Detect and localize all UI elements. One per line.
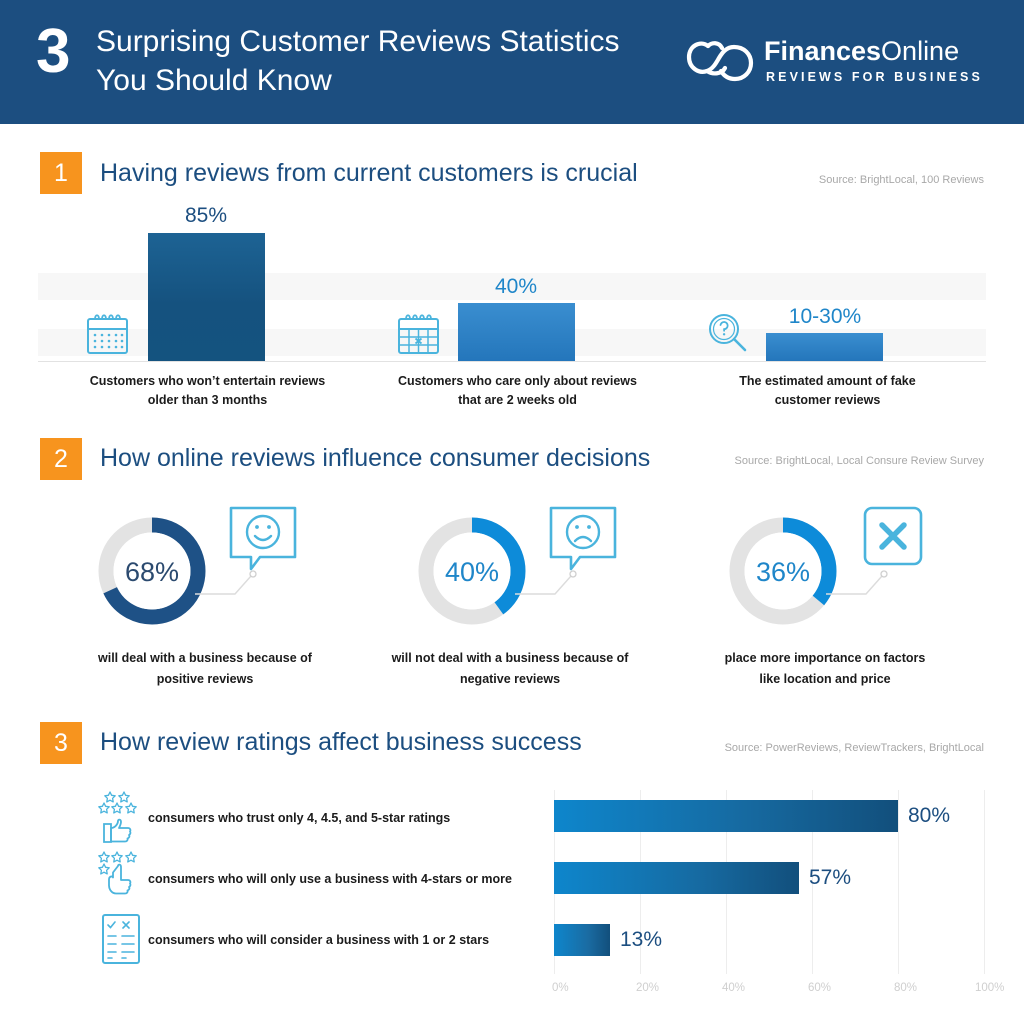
page-title: Surprising Customer Reviews Statistics Y… (96, 22, 696, 100)
chart3-xtick-40: 40% (722, 982, 745, 994)
five-stars-thumbs-up-icon (98, 790, 144, 846)
chart1-value-1: 85% (146, 204, 266, 228)
chart1-label-1-line1: Customers who won’t entertain reviews (60, 372, 355, 391)
chart3-label-2: consumers who will only use a business w… (148, 872, 512, 886)
magnifier-question-icon (705, 309, 751, 357)
x-cross-box-icon (862, 505, 924, 567)
chart1-bar-3 (766, 333, 883, 361)
header-big-number: 3 (36, 16, 69, 88)
chart1-bar-1 (148, 233, 265, 361)
donut-36-connector (826, 568, 906, 598)
page-header: 3 Surprising Customer Reviews Statistics… (0, 0, 1024, 124)
donut-chart-40: 40% (417, 505, 527, 638)
donut-36-label: place more importance on factors like lo… (660, 648, 990, 690)
section-2-badge: 2 (40, 438, 82, 480)
section-1-title: Having reviews from current customers is… (100, 159, 638, 188)
section-1-source: Source: BrightLocal, 100 Reviews (819, 174, 984, 186)
chart3-xtick-0: 0% (552, 982, 569, 994)
logo-tagline: REVIEWS FOR BUSINESS (766, 70, 983, 84)
chart1-label-3: The estimated amount of fake customer re… (680, 372, 975, 410)
chart1-label-3-line1: The estimated amount of fake (680, 372, 975, 391)
page-title-line2: You Should Know (96, 61, 696, 100)
checklist-document-icon (100, 913, 142, 965)
section-3-title: How review ratings affect business succe… (100, 728, 582, 757)
financesonline-logo: FinancesOnline REVIEWS FOR BUSINESS (686, 33, 986, 93)
cloud-infinity-logo-icon (686, 38, 758, 88)
chart1-value-3: 10-30% (765, 305, 885, 329)
logo-wordmark: FinancesOnline (764, 35, 959, 67)
chart1-axis-line (38, 361, 986, 362)
chart3-xtick-80: 80% (894, 982, 917, 994)
chart3-bar-2 (554, 862, 799, 894)
donut-chart-68: 68% (97, 505, 207, 638)
donut-68-label-line2: positive reviews (40, 669, 370, 690)
calendar-x-icon (396, 309, 441, 357)
chart1-label-2-line2: that are 2 weeks old (370, 391, 665, 410)
smiley-happy-speech-bubble-icon (228, 505, 298, 575)
chart3-xtick-60: 60% (808, 982, 831, 994)
chart3-grid-80 (898, 790, 899, 974)
chart1-bar-2 (458, 303, 575, 361)
chart3-value-3: 13% (620, 928, 662, 952)
page-title-line1: Surprising Customer Reviews Statistics (96, 25, 620, 58)
smiley-sad-speech-bubble-icon (548, 505, 618, 575)
donut-36-label-line1: place more importance on factors (660, 648, 990, 669)
chart3-label-1: consumers who trust only 4, 4.5, and 5-s… (148, 811, 450, 825)
four-stars-pointing-hand-icon (98, 850, 144, 906)
chart3-xtick-20: 20% (636, 982, 659, 994)
donut-68-label-line1: will deal with a business because of (40, 648, 370, 669)
chart1-value-2: 40% (456, 275, 576, 299)
chart3-value-1: 80% (908, 804, 950, 828)
chart3-bar-3 (554, 924, 610, 956)
donut-68-value: 68% (97, 557, 207, 588)
logo-name-bold: Finances (764, 36, 881, 66)
calendar-dots-icon (85, 309, 130, 357)
donut-40-label: will not deal with a business because of… (345, 648, 675, 690)
chart1-label-1: Customers who won’t entertain reviews ol… (60, 372, 355, 410)
chart3-label-3: consumers who will consider a business w… (148, 933, 489, 947)
section-1-badge: 1 (40, 152, 82, 194)
infographic-page: 3 Surprising Customer Reviews Statistics… (0, 0, 1024, 1024)
chart1-label-1-line2: older than 3 months (60, 391, 355, 410)
section-2-title: How online reviews influence consumer de… (100, 444, 650, 473)
donut-chart-36: 36% (728, 505, 838, 638)
chart3-grid-100 (984, 790, 985, 974)
chart3-value-2: 57% (809, 866, 851, 890)
chart1-label-2: Customers who care only about reviews th… (370, 372, 665, 410)
chart1-label-3-line2: customer reviews (680, 391, 975, 410)
chart3-xtick-100: 100% (975, 982, 1004, 994)
donut-40-label-line1: will not deal with a business because of (345, 648, 675, 669)
donut-36-label-line2: like location and price (660, 669, 990, 690)
section-3-source: Source: PowerReviews, ReviewTrackers, Br… (725, 742, 984, 754)
chart1-label-2-line1: Customers who care only about reviews (370, 372, 665, 391)
donut-36-value: 36% (728, 557, 838, 588)
donut-40-label-line2: negative reviews (345, 669, 675, 690)
logo-name-light: Online (881, 36, 959, 66)
section-3-badge: 3 (40, 722, 82, 764)
donut-40-value: 40% (417, 557, 527, 588)
section-2-source: Source: BrightLocal, Local Consure Revie… (735, 455, 984, 467)
donut-68-label: will deal with a business because of pos… (40, 648, 370, 690)
chart3-bar-1 (554, 800, 898, 832)
